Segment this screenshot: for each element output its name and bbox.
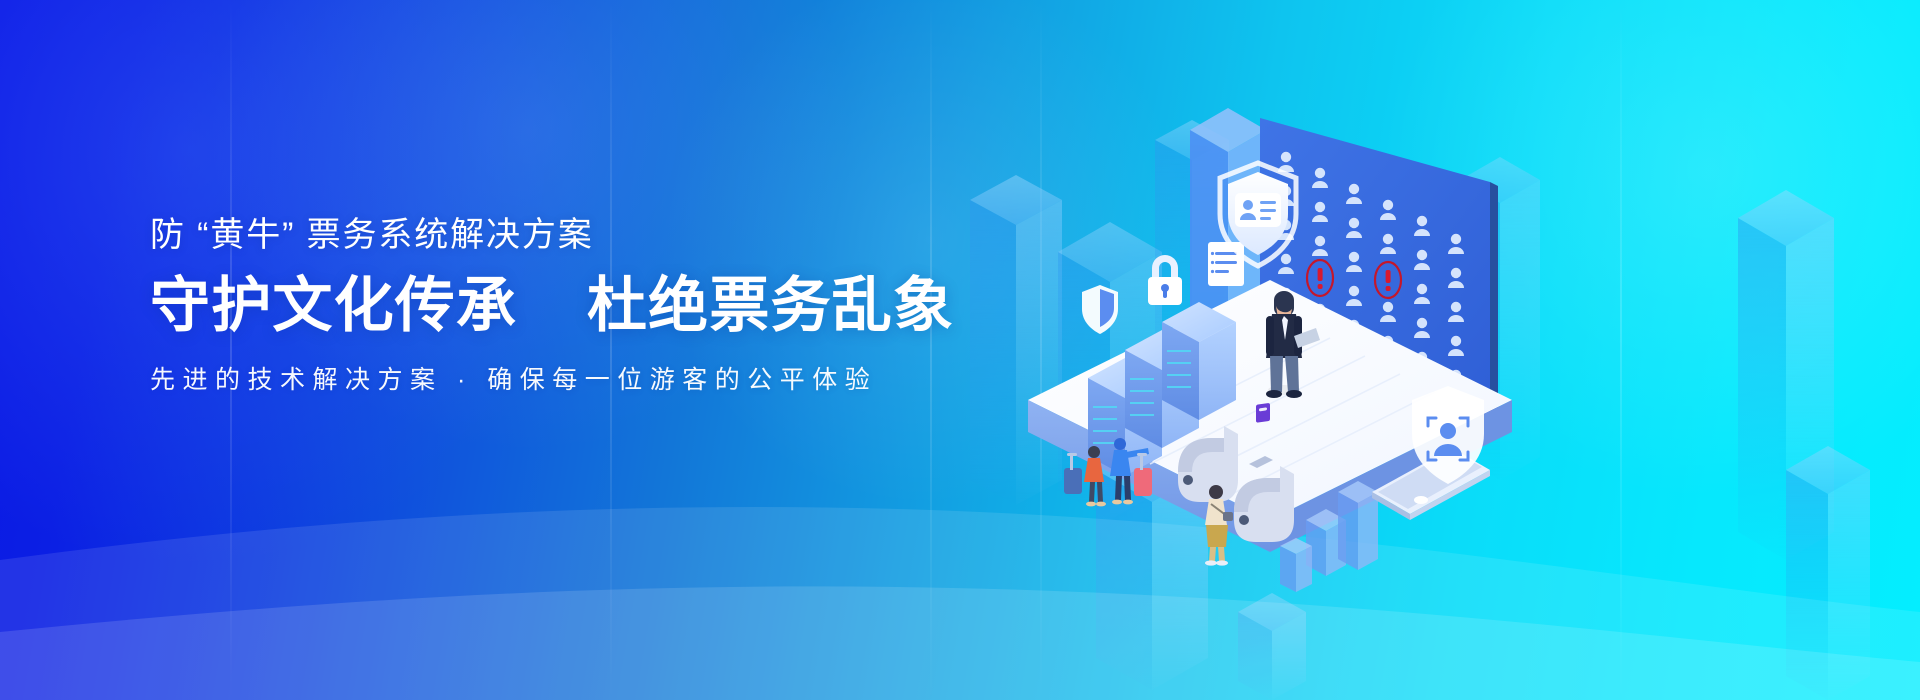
iso-block-bottom-right: [1786, 446, 1870, 700]
hero-banner: 防 “黄牛” 票务系统解决方案 守护文化传承 杜绝票务乱象 先进的技术解决方案 …: [0, 0, 1920, 700]
isometric-illustration: [1020, 100, 1520, 620]
hero-subline: 先进的技术解决方案 · 确保每一位游客的公平体验: [150, 364, 930, 397]
hero-headline: 守护文化传承 杜绝票务乱象: [150, 269, 930, 342]
wave-upper: [0, 507, 1920, 700]
small-shield-icon: [1082, 285, 1118, 334]
wave-lower: [0, 586, 1920, 700]
light-streak-3: [930, 0, 932, 700]
padlock-icon: [1148, 255, 1182, 305]
headline-part-left: 守护文化传承: [150, 272, 517, 339]
light-streak-5: [1620, 0, 1622, 700]
iso-block-far-right: [1738, 190, 1834, 560]
document-icon: [1208, 242, 1244, 286]
headline-part-right: 杜绝票务乱象: [587, 272, 954, 339]
server-rack-small: [1162, 302, 1236, 420]
wave-decoration: [0, 400, 1920, 700]
luggage-blue: [1064, 453, 1082, 494]
hero-copy: 防 “黄牛” 票务系统解决方案 守护文化传承 杜绝票务乱象 先进的技术解决方案 …: [150, 214, 930, 396]
hero-kicker: 防 “黄牛” 票务系统解决方案: [150, 214, 930, 257]
